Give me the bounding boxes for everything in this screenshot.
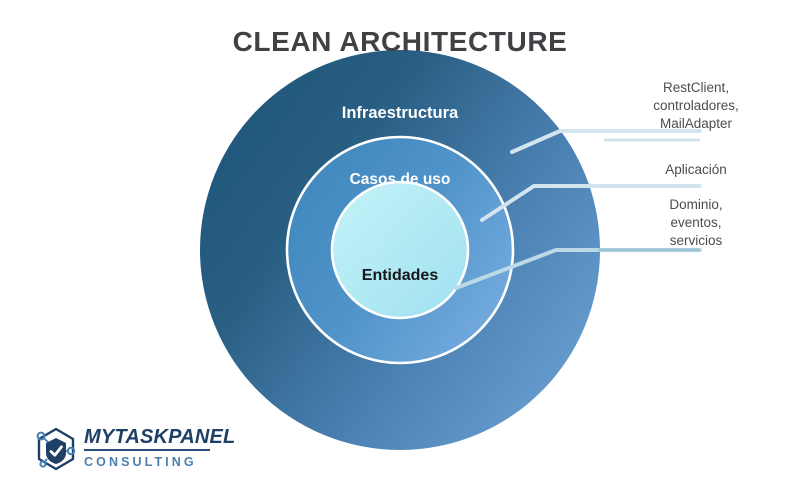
logo-name: MYTASKPANEL — [84, 426, 210, 448]
page-title: CLEAN ARCHITECTURE — [0, 26, 800, 58]
annotation-line: Aplicación — [596, 161, 796, 179]
logo-divider — [84, 449, 210, 451]
ring-label-infraestructura: Infraestructura — [250, 104, 550, 123]
ring-entidades[interactable] — [332, 182, 468, 318]
annotation-line: servicios — [596, 232, 796, 250]
annotation-line: MailAdapter — [596, 115, 796, 133]
brand-logo[interactable]: MYTASKPANEL CONSULTING — [30, 420, 210, 482]
logo-subtitle: CONSULTING — [84, 453, 210, 471]
diagram-canvas: CLEAN ARCHITECTURE Infraestructura Casos… — [0, 0, 800, 500]
ring-label-casos-de-uso: Casos de uso — [280, 171, 520, 189]
annotation-line: eventos, — [596, 214, 796, 232]
annotation-line: Dominio, — [596, 196, 796, 214]
logo-text: MYTASKPANEL CONSULTING — [84, 426, 210, 471]
ring-label-entidades: Entidades — [320, 267, 480, 285]
annotation-line: controladores, — [596, 97, 796, 115]
annotation-infraestructura: RestClient, controladores, MailAdapter — [596, 79, 796, 133]
annotation-line: RestClient, — [596, 79, 796, 97]
annotation-aplicacion: Aplicación — [596, 161, 796, 179]
hexagon-shield-check-icon — [30, 424, 82, 476]
annotation-dominio: Dominio, eventos, servicios — [596, 196, 796, 250]
